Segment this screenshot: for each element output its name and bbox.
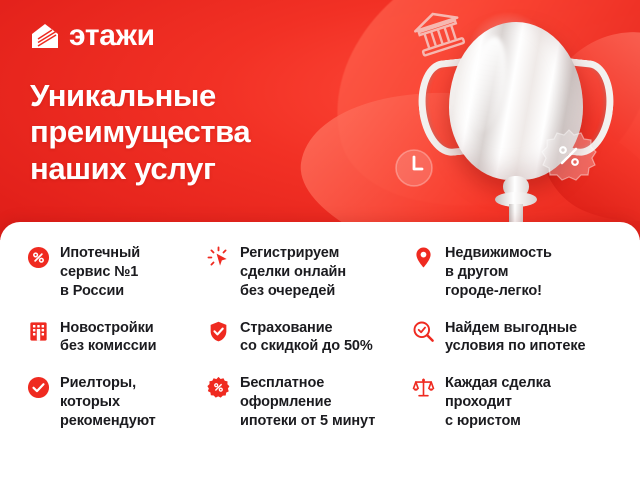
feature-label: Новостройки без комиссии	[60, 319, 156, 357]
feature-label: Ипотечный сервис №1 в России	[60, 244, 140, 301]
percent-seal-icon	[541, 128, 597, 184]
feature-item: Недвижимость в другом городе-легко!	[411, 240, 626, 301]
feature-label: Найдем выгодные условия по ипотеке	[445, 319, 585, 357]
shield-check-icon	[206, 320, 230, 344]
features-panel: Ипотечный сервис №1 в России	[0, 222, 640, 480]
search-check-icon	[411, 320, 435, 344]
feature-item: Страхование со скидкой до 50%	[206, 315, 411, 357]
feature-label: Бесплатное оформление ипотеки от 5 минут	[240, 374, 375, 431]
feature-label: Недвижимость в другом городе-легко!	[445, 244, 552, 301]
building-logo-icon	[30, 23, 60, 49]
brand-name: этажи	[69, 21, 155, 51]
feature-item: Новостройки без комиссии	[26, 315, 206, 357]
percent-seal-icon	[206, 375, 230, 399]
feature-label: Риелторы, которых рекомендуют	[60, 374, 156, 431]
feature-label: Регистрируем сделки онлайн без очередей	[240, 244, 346, 301]
feature-item: Каждая сделка проходит с юристом	[411, 370, 626, 431]
feature-item: Бесплатное оформление ипотеки от 5 минут	[206, 370, 411, 431]
hero-section: этажи Уникальные преимущества наших услу…	[0, 0, 640, 240]
feature-item: Найдем выгодные условия по ипотеке	[411, 315, 626, 357]
brand-logo[interactable]: этажи	[30, 21, 155, 51]
feature-item: Ипотечный сервис №1 в России	[26, 240, 206, 301]
building-icon	[26, 320, 50, 344]
feature-item: Риелторы, которых рекомендуют	[26, 370, 206, 431]
feature-item: Регистрируем сделки онлайн без очередей	[206, 240, 411, 301]
page-title: Уникальные преимущества наших услуг	[30, 78, 360, 187]
check-circle-icon	[26, 375, 50, 399]
features-grid: Ипотечный сервис №1 в России	[26, 240, 626, 431]
percent-circle-icon	[26, 245, 50, 269]
map-pin-icon	[411, 245, 435, 269]
feature-label: Страхование со скидкой до 50%	[240, 319, 373, 357]
clock-icon	[394, 148, 434, 188]
feature-label: Каждая сделка проходит с юристом	[445, 374, 551, 431]
scales-icon	[411, 375, 435, 399]
cursor-click-icon	[206, 245, 230, 269]
promo-banner: этажи Уникальные преимущества наших услу…	[0, 0, 640, 480]
